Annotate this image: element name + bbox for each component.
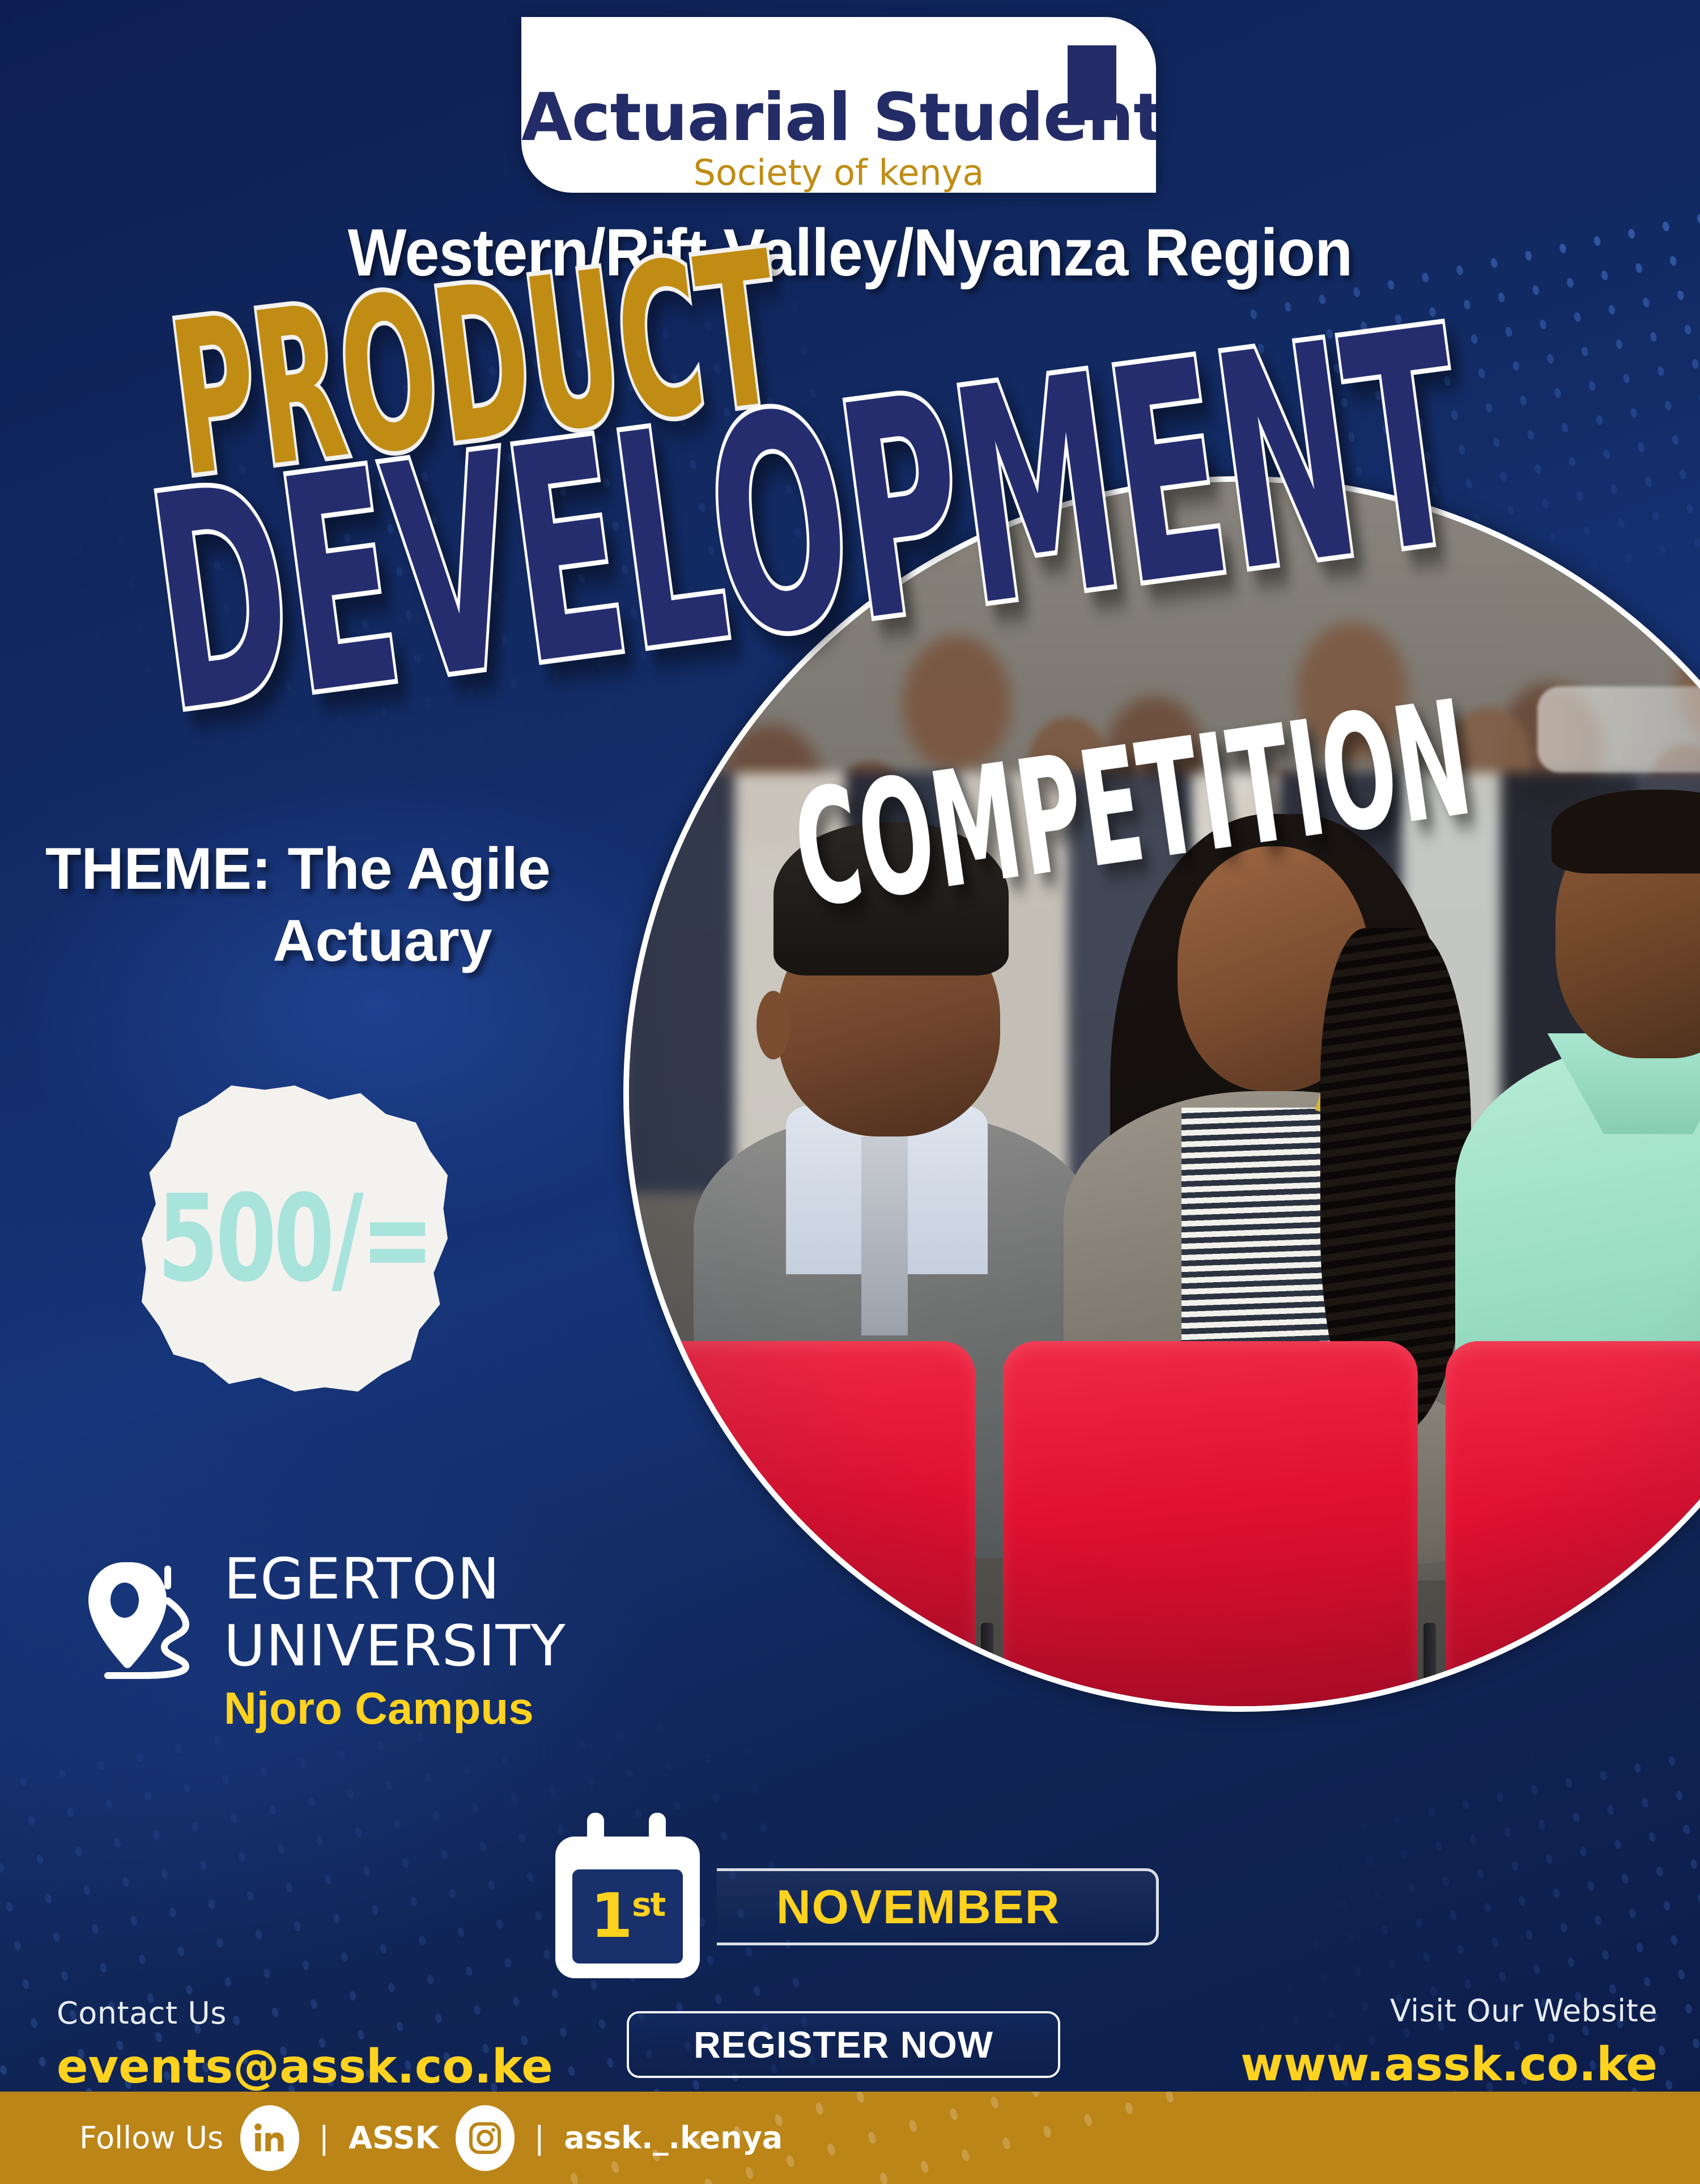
photo-chair-leg: [981, 1623, 993, 1712]
website-url[interactable]: www.assk.co.ke: [1240, 2038, 1657, 2092]
assk-logo: Actuarial Students’ Society of kenya: [521, 17, 1156, 193]
poster-canvas: Actuarial Students’ Society of kenya Wes…: [0, 0, 1700, 2184]
theme-text: THEME: The Agile Actuary: [45, 833, 771, 977]
register-now-button[interactable]: REGISTER NOW: [627, 2011, 1060, 2078]
venue-line-1: EGERTON: [224, 1547, 586, 1611]
price-amount: 500/=: [158, 1169, 431, 1308]
contact-email[interactable]: events@assk.co.ke: [57, 2040, 553, 2094]
photo-chairs: [623, 1341, 1700, 1712]
instagram-icon[interactable]: [456, 2105, 515, 2171]
footer-separator-1: |: [316, 2119, 331, 2157]
calendar-ring: [649, 1813, 666, 1843]
social-footer: Follow Us | ASSK | assk._.kenya: [0, 2092, 1700, 2184]
photo-chair-leg: [1423, 1623, 1436, 1712]
follow-us-label: Follow Us: [79, 2120, 223, 2156]
calendar-day-number: 1: [590, 1881, 632, 1952]
footer-content: Follow Us | ASSK | assk._.kenya: [0, 2105, 783, 2171]
venue-text: EGERTON UNIVERSITY Njoro Campus: [224, 1547, 586, 1735]
photo-chair: [623, 1341, 975, 1712]
calendar-day-ordinal: st: [632, 1885, 665, 1924]
month-bar: NOVEMBER: [717, 1868, 1159, 1945]
footer-separator-2: |: [532, 2119, 547, 2157]
event-date: 1st NOVEMBER: [555, 1837, 1179, 1978]
calendar-icon: 1st: [555, 1837, 700, 1978]
calendar-day-window: 1st: [572, 1869, 683, 1964]
calendar-ring: [587, 1813, 604, 1843]
instagram-handle[interactable]: assk._.kenya: [564, 2120, 783, 2156]
theme-line-1: THEME: The Agile: [45, 833, 771, 905]
venue-campus: Njoro Campus: [224, 1682, 586, 1735]
linkedin-icon[interactable]: [240, 2105, 299, 2171]
logo-subtitle: Society of kenya: [521, 152, 1156, 193]
photo-person-left-ear: [756, 991, 790, 1060]
photo-chair: [1003, 1341, 1418, 1712]
venue-line-2: UNIVERSITY: [224, 1614, 586, 1678]
event-month: NOVEMBER: [717, 1880, 1060, 1935]
photo-person-left-tie: [861, 1136, 908, 1335]
logo-title: Actuarial Students’: [521, 79, 1156, 156]
website-label: Visit Our Website: [1240, 1993, 1657, 2029]
website-block: Visit Our Website www.assk.co.ke: [1240, 1993, 1657, 2092]
calendar-day: 1st: [590, 1886, 665, 1947]
linkedin-handle[interactable]: ASSK: [348, 2120, 439, 2156]
contact-label: Contact Us: [57, 1995, 553, 2031]
price-badge: 500/=: [142, 1085, 448, 1392]
theme-line-2: Actuary: [45, 905, 771, 977]
contact-block: Contact Us events@assk.co.ke: [57, 1995, 553, 2094]
photo-chair: [1446, 1341, 1700, 1712]
hero-wordmark: PRODUCT DEVELOPMENT COMPETITION: [0, 317, 1700, 828]
location-pin-icon: [85, 1559, 207, 1700]
